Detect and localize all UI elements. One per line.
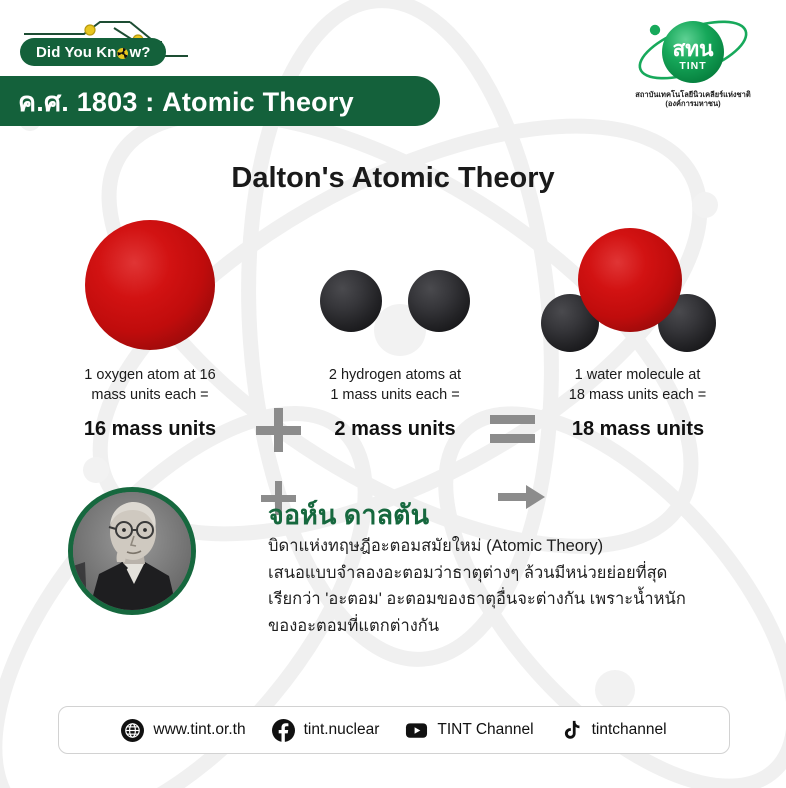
logo-caption-line2: (องค์การมหาชน) bbox=[608, 99, 778, 108]
hydrogen-total: 2 mass units bbox=[285, 418, 505, 441]
did-you-know-pill: Did You Kn w? bbox=[20, 38, 166, 66]
hydrogen-atom-sphere-1 bbox=[320, 270, 382, 332]
footer-item-facebook[interactable]: tint.nuclear bbox=[272, 719, 380, 742]
infographic-page: Did You Kn w? ค.ศ. 1803 : Atomic Theory bbox=[0, 0, 786, 788]
hydrogen-caption: 2 hydrogen atoms at 1 mass units each = bbox=[285, 366, 505, 405]
svg-text:TINT: TINT bbox=[679, 60, 706, 72]
water-total: 18 mass units bbox=[528, 418, 748, 441]
bio-line-4: ของอะตอมที่แตกต่างกัน bbox=[268, 613, 748, 640]
facebook-icon bbox=[272, 719, 295, 742]
footer-label-facebook: tint.nuclear bbox=[304, 721, 380, 739]
oxygen-total: 16 mass units bbox=[40, 418, 260, 441]
footer-item-tiktok[interactable]: tintchannel bbox=[560, 719, 667, 742]
tint-logo-mark: สทน TINT bbox=[608, 14, 778, 90]
radioactive-icon bbox=[117, 48, 128, 59]
tint-logo-block: สทน TINT สถาบันเทคโนโลยีนิวเคลียร์แห่งชา… bbox=[608, 14, 778, 109]
oxygen-atom-sphere bbox=[85, 220, 215, 350]
footer-label-website: www.tint.or.th bbox=[153, 721, 245, 739]
footer-item-website[interactable]: www.tint.or.th bbox=[121, 719, 245, 742]
page-title-bar: ค.ศ. 1803 : Atomic Theory bbox=[0, 76, 440, 126]
water-oxygen-sphere bbox=[578, 228, 682, 332]
globe-icon bbox=[121, 719, 144, 742]
oxygen-caption-line2: mass units each = bbox=[40, 386, 260, 406]
water-caption-line2: 18 mass units each = bbox=[530, 386, 745, 406]
dalton-equation-diagram: 1 oxygen atom at 16 mass units each = 2 … bbox=[0, 206, 786, 456]
water-caption: 1 water molecule at 18 mass units each = bbox=[530, 366, 745, 405]
oxygen-caption: 1 oxygen atom at 16 mass units each = bbox=[40, 366, 260, 405]
hydrogen-caption-line1: 2 hydrogen atoms at bbox=[285, 366, 505, 386]
hydrogen-caption-line2: 1 mass units each = bbox=[285, 386, 505, 406]
youtube-icon bbox=[405, 719, 428, 742]
main-heading: Dalton's Atomic Theory bbox=[0, 162, 786, 195]
did-you-know-text-before: Did You Kn bbox=[36, 44, 116, 61]
social-footer-bar: www.tint.or.th tint.nuclear TINT Channel… bbox=[58, 706, 730, 754]
water-caption-line1: 1 water molecule at bbox=[530, 366, 745, 386]
bio-line-3: เรียกว่า 'อะตอม' อะตอมของธาตุอื่นจะต่างก… bbox=[268, 586, 748, 613]
did-you-know-badge: Did You Kn w? bbox=[12, 12, 222, 67]
footer-label-tiktok: tintchannel bbox=[592, 721, 667, 739]
bio-line-2: เสนอแบบจำลองอะตอมว่าธาตุต่างๆ ล้วนมีหน่ว… bbox=[268, 560, 748, 587]
page-title: ค.ศ. 1803 : Atomic Theory bbox=[18, 80, 354, 123]
dalton-name: จอห์น ดาลตัน bbox=[268, 500, 748, 531]
logo-caption-line1: สถาบันเทคโนโลยีนิวเคลียร์แห่งชาติ bbox=[608, 90, 778, 99]
dalton-bio: จอห์น ดาลตัน บิดาแห่งทฤษฎีอะตอมสมัยใหม่ … bbox=[268, 500, 748, 640]
oxygen-caption-line1: 1 oxygen atom at 16 bbox=[40, 366, 260, 386]
hydrogen-atom-sphere-2 bbox=[408, 270, 470, 332]
bio-line-1: บิดาแห่งทฤษฎีอะตอมสมัยใหม่ (Atomic Theor… bbox=[268, 533, 748, 560]
did-you-know-text-after: w? bbox=[129, 44, 150, 61]
svg-text:สทน: สทน bbox=[672, 38, 714, 61]
footer-label-youtube: TINT Channel bbox=[437, 721, 533, 739]
john-dalton-portrait bbox=[68, 487, 196, 615]
footer-item-youtube[interactable]: TINT Channel bbox=[405, 719, 533, 742]
tiktok-icon bbox=[560, 719, 583, 742]
